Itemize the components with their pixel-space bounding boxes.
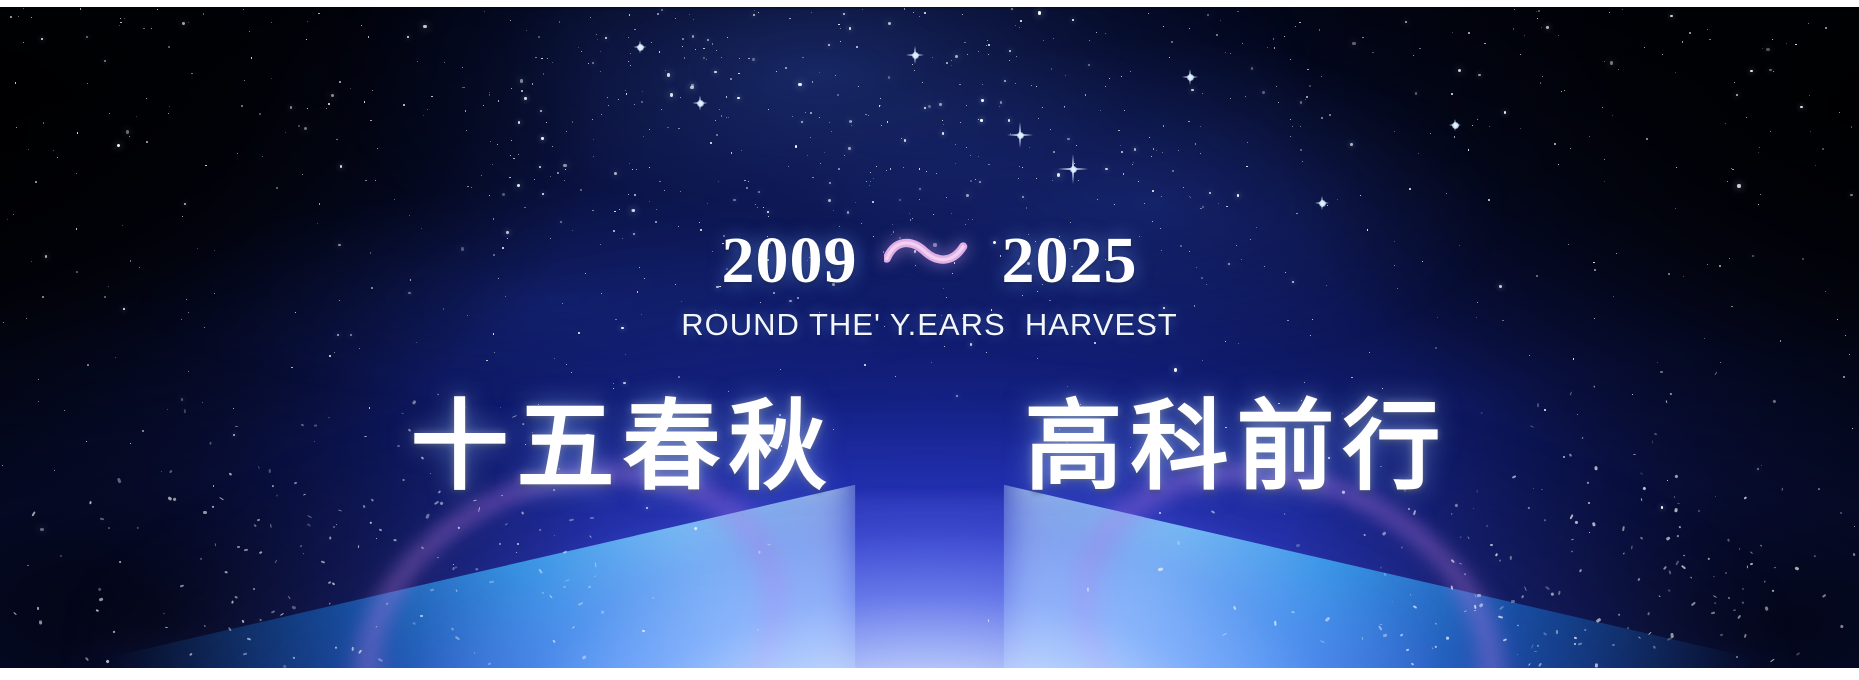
wave-tilde-icon bbox=[884, 232, 976, 274]
chinese-slogan-row: 十五春秋 高科前行 bbox=[410, 395, 1448, 501]
year-end: 2025 bbox=[1002, 228, 1138, 294]
banner-content: 2009 2025 ROUND THE' Y.EARS HARVEST 十五春秋… bbox=[0, 0, 1859, 680]
bottom-white-edge bbox=[0, 668, 1859, 680]
slogan-right: 高科前行 bbox=[1025, 395, 1449, 501]
slogan-left: 十五春秋 bbox=[410, 395, 834, 501]
anniversary-banner: 2009 2025 ROUND THE' Y.EARS HARVEST 十五春秋… bbox=[0, 0, 1859, 680]
year-range: 2009 2025 bbox=[722, 228, 1138, 294]
english-subtitle: ROUND THE' Y.EARS HARVEST bbox=[681, 307, 1177, 343]
year-start: 2009 bbox=[722, 228, 858, 294]
top-white-edge bbox=[0, 0, 1859, 7]
